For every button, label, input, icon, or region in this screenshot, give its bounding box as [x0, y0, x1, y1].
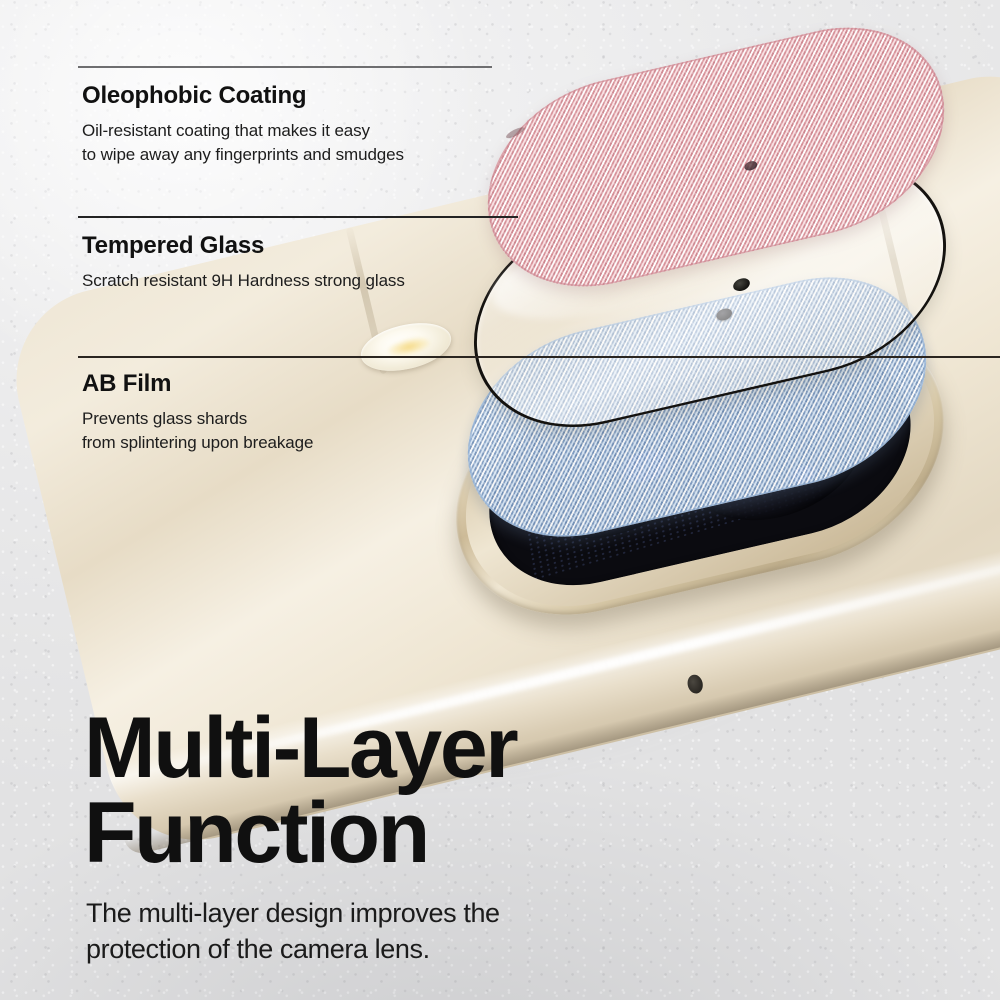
tempered-glass-cutout-hole: [733, 277, 750, 293]
callout-title-ab-film: AB Film: [82, 370, 313, 399]
headline-line-2: Function: [84, 791, 724, 876]
callout-desc-ab-film: Prevents glass shards from splintering u…: [82, 407, 313, 456]
callout-ab-film: AB Film Prevents glass shards from splin…: [82, 370, 313, 456]
page-subheadline: The multi-layer design improves the prot…: [86, 896, 806, 967]
headline-line-1: Multi-Layer: [84, 706, 724, 791]
oleophobic-cutout-hole: [744, 160, 757, 172]
callout-desc-tempered-glass: Scratch resistant 9H Hardness strong gla…: [82, 269, 405, 294]
subheadline-line-1: The multi-layer design improves the: [86, 896, 806, 932]
callout-title-oleophobic: Oleophobic Coating: [82, 82, 404, 111]
callout-desc-line1: Prevents glass shards: [82, 407, 313, 432]
leader-line-oleophobic: [78, 66, 492, 68]
callout-desc-line2: from splintering upon breakage: [82, 431, 313, 456]
callout-tempered-glass: Tempered Glass Scratch resistant 9H Hard…: [82, 232, 405, 293]
product-infographic: Oleophobic Coating Oil-resistant coating…: [0, 0, 1000, 1000]
callout-title-tempered-glass: Tempered Glass: [82, 232, 405, 261]
callout-desc-oleophobic: Oil-resistant coating that makes it easy…: [82, 119, 404, 168]
leader-line-tempered-glass: [78, 216, 518, 218]
page-headline: Multi-Layer Function: [84, 706, 724, 876]
leader-line-ab-film: [78, 356, 1000, 358]
callout-oleophobic-coating: Oleophobic Coating Oil-resistant coating…: [82, 82, 404, 168]
callout-desc-line2: to wipe away any fingerprints and smudge…: [82, 143, 404, 168]
subheadline-line-2: protection of the camera lens.: [86, 932, 806, 968]
callout-desc-line1: Oil-resistant coating that makes it easy: [82, 119, 404, 144]
callout-desc-line1: Scratch resistant 9H Hardness strong gla…: [82, 269, 405, 294]
